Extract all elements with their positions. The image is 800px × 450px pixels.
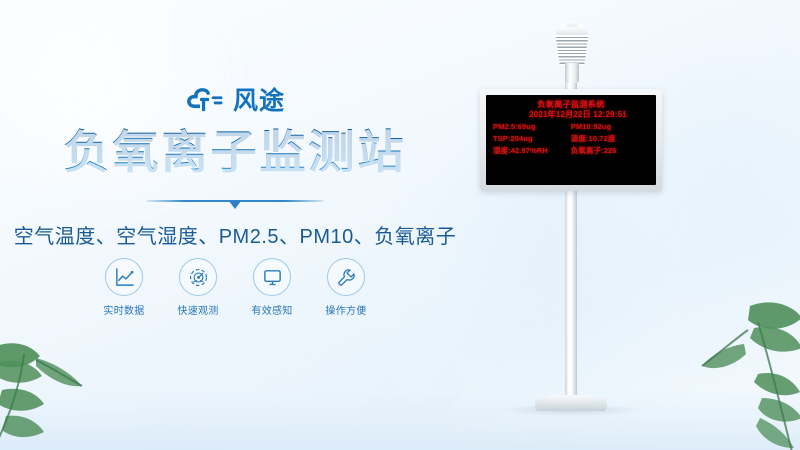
feature-label: 操作方便: [322, 302, 370, 317]
feature-label: 实时数据: [100, 302, 148, 317]
led-reading-temperature: 温度:10.72度: [565, 134, 649, 145]
plant-leaves-icon: [0, 328, 116, 450]
feature-icon-circle: [179, 258, 217, 296]
led-reading-humidity: 湿度:42.97%RH: [493, 146, 565, 157]
sensor-plates: [554, 35, 590, 65]
monitor-icon: [262, 267, 283, 288]
radar-sensor-icon: [188, 267, 209, 288]
sensor-cap: [556, 24, 588, 36]
title-divider: [0, 196, 470, 210]
station-base-plate: [535, 398, 607, 411]
feature-item-fast-observation: 快速观测: [174, 258, 222, 317]
feature-icon-circle: [253, 258, 291, 296]
page-subtitle: 空气温度、空气湿度、PM2.5、PM10、负氧离子: [0, 220, 470, 249]
brand-logo: 风途: [0, 86, 470, 116]
feature-item-easy-operation: 操作方便: [322, 258, 370, 317]
led-reading-negative-oxygen-ions: 负氧离子:226: [565, 146, 649, 157]
divider-triangle-icon: [229, 201, 241, 209]
led-screen: 负氧离子监测系统 2021年12月22日 12:20:51 PM2.5:69ug…: [486, 95, 656, 185]
wrench-icon: [336, 267, 357, 288]
plant-leaves-icon: [688, 292, 800, 450]
led-reading-pm10: PM10:92ug: [565, 122, 649, 133]
feature-list: 实时数据 快速观测 有效感知: [0, 258, 470, 317]
led-screen-datetime: 2021年12月22日 12:20:51: [493, 110, 649, 121]
led-readings-grid: PM2.5:69ug PM10:92ug TSP:204ug 温度:10.72度…: [493, 122, 649, 157]
feature-item-realtime-data: 实时数据: [100, 258, 148, 317]
led-reading-pm25: PM2.5:69ug: [493, 122, 565, 133]
led-display-monitor[interactable]: 负氧离子监测系统 2021年12月22日 12:20:51 PM2.5:69ug…: [480, 89, 662, 191]
led-reading-tsp: TSP:204ug: [493, 134, 565, 145]
wind-cloud-logo-icon: [185, 86, 225, 116]
led-screen-title: 负氧离子监测系统: [493, 100, 649, 110]
feature-icon-circle: [105, 258, 143, 296]
feature-label: 有效感知: [248, 302, 296, 317]
chart-line-icon: [114, 267, 135, 288]
brand-name: 风途: [233, 89, 285, 114]
page-title: 负氧离子监测站: [0, 128, 470, 178]
feature-label: 快速观测: [174, 302, 222, 317]
feature-item-effective-sensing: 有效感知: [248, 258, 296, 317]
sensor-stem: [565, 63, 579, 83]
radiation-shield-sensor-icon: [551, 24, 593, 80]
feature-icon-circle: [327, 258, 365, 296]
